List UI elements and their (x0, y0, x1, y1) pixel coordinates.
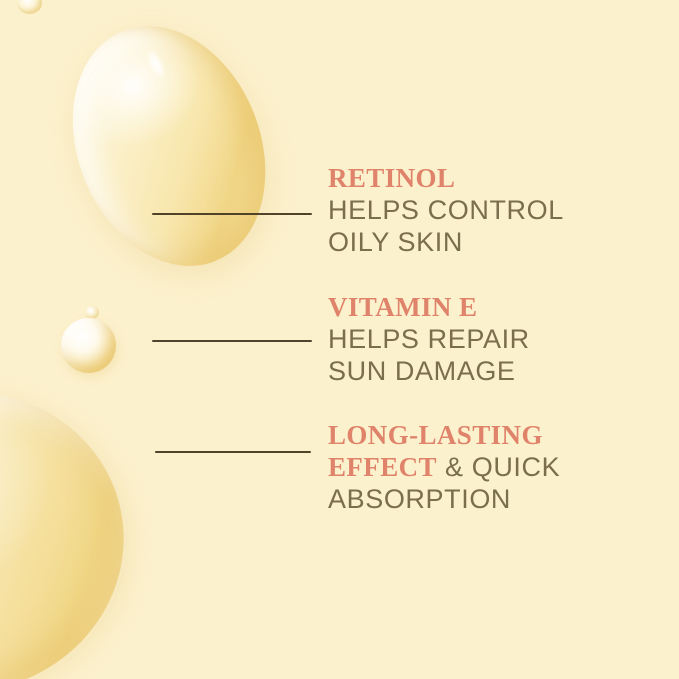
benefit-headline: LONG-LASTING (328, 420, 560, 452)
benefit-item-vitamin-e: VITAMIN E HELPS REPAIR SUN DAMAGE (152, 292, 530, 388)
benefit-body-line-1: ABSORPTION (328, 484, 560, 516)
benefit-text-block: RETINOL HELPS CONTROL OILY SKIN (328, 163, 564, 259)
infographic-canvas: RETINOL HELPS CONTROL OILY SKIN VITAMIN … (0, 0, 679, 679)
leader-line (152, 213, 312, 215)
leader-line (155, 451, 311, 453)
leader-line (152, 340, 312, 342)
benefit-text-block: VITAMIN E HELPS REPAIR SUN DAMAGE (328, 292, 530, 388)
benefit-item-retinol: RETINOL HELPS CONTROL OILY SKIN (152, 163, 564, 259)
benefit-mixed-accent: EFFECT (328, 452, 437, 482)
benefit-body-line-1: HELPS REPAIR (328, 324, 530, 356)
benefit-mixed-rest: & QUICK (437, 452, 560, 482)
benefit-mixed-line: EFFECT & QUICK (328, 452, 560, 484)
benefit-body-line-1: HELPS CONTROL (328, 195, 564, 227)
benefits-list: RETINOL HELPS CONTROL OILY SKIN VITAMIN … (0, 0, 679, 679)
benefit-body-line-2: OILY SKIN (328, 227, 564, 259)
benefit-body-line-2: SUN DAMAGE (328, 356, 530, 388)
benefit-text-block: LONG-LASTING EFFECT & QUICK ABSORPTION (328, 420, 560, 516)
benefit-headline: VITAMIN E (328, 292, 530, 324)
benefit-headline: RETINOL (328, 163, 564, 195)
benefit-item-long-lasting: LONG-LASTING EFFECT & QUICK ABSORPTION (155, 420, 560, 516)
